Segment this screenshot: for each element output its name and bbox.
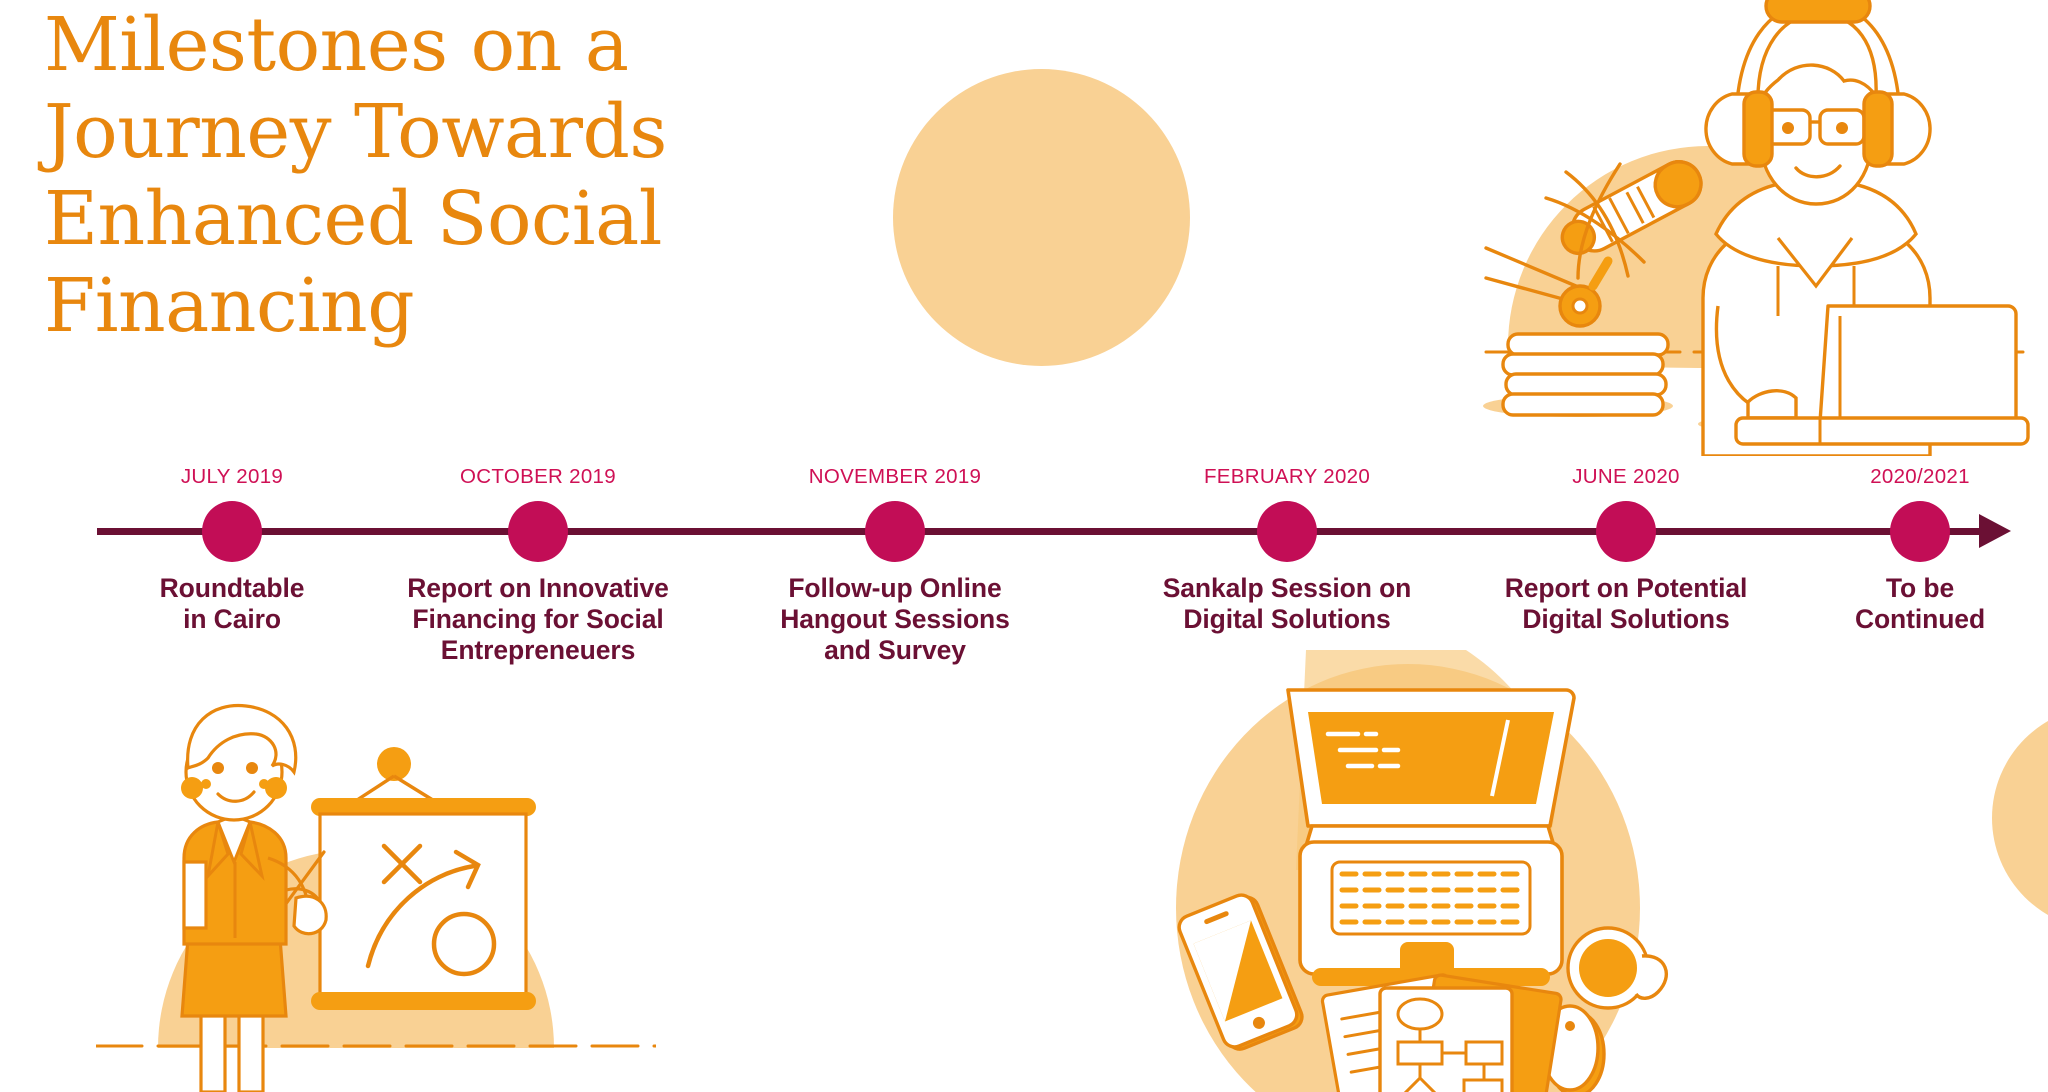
milestone-1-dot[interactable] bbox=[202, 501, 262, 562]
presenter-illustration bbox=[96, 676, 656, 1092]
header-peach-circle bbox=[893, 69, 1190, 366]
podcast-host-illustration bbox=[1448, 0, 2048, 456]
page-title: Milestones on a Journey Towards Enhanced… bbox=[44, 2, 744, 350]
slide-canvas: Milestones on a Journey Towards Enhanced… bbox=[0, 0, 2048, 1092]
milestone-4-dot[interactable] bbox=[1257, 501, 1317, 562]
milestone-3-label: Follow-up Online Hangout Sessions and Su… bbox=[745, 573, 1045, 666]
right-edge-peach-circle bbox=[1992, 706, 2048, 930]
milestone-5-label: Report on Potential Digital Solutions bbox=[1476, 573, 1776, 635]
milestone-5-date: JUNE 2020 bbox=[1476, 466, 1776, 488]
milestone-2-dot[interactable] bbox=[508, 501, 568, 562]
milestone-4-date: FEBRUARY 2020 bbox=[1137, 466, 1437, 488]
milestone-3-date: NOVEMBER 2019 bbox=[745, 466, 1045, 488]
milestone-6-date: 2020/2021 bbox=[1770, 466, 2048, 488]
milestone-6-label: To be Continued bbox=[1770, 573, 2048, 635]
milestone-4-label: Sankalp Session on Digital Solutions bbox=[1137, 573, 1437, 635]
milestone-6-dot[interactable] bbox=[1890, 501, 1950, 562]
milestone-2-date: OCTOBER 2019 bbox=[388, 466, 688, 488]
milestone-5-dot[interactable] bbox=[1596, 501, 1656, 562]
milestone-1-label: Roundtable in Cairo bbox=[82, 573, 382, 635]
timeline-axis-line bbox=[97, 528, 1987, 535]
milestone-3-dot[interactable] bbox=[865, 501, 925, 562]
milestone-1-date: JULY 2019 bbox=[82, 466, 382, 488]
timeline-arrow-icon bbox=[1979, 514, 2011, 548]
milestone-2-label: Report on Innovative Financing for Socia… bbox=[388, 573, 688, 666]
desk-workspace-illustration bbox=[1136, 650, 1706, 1092]
